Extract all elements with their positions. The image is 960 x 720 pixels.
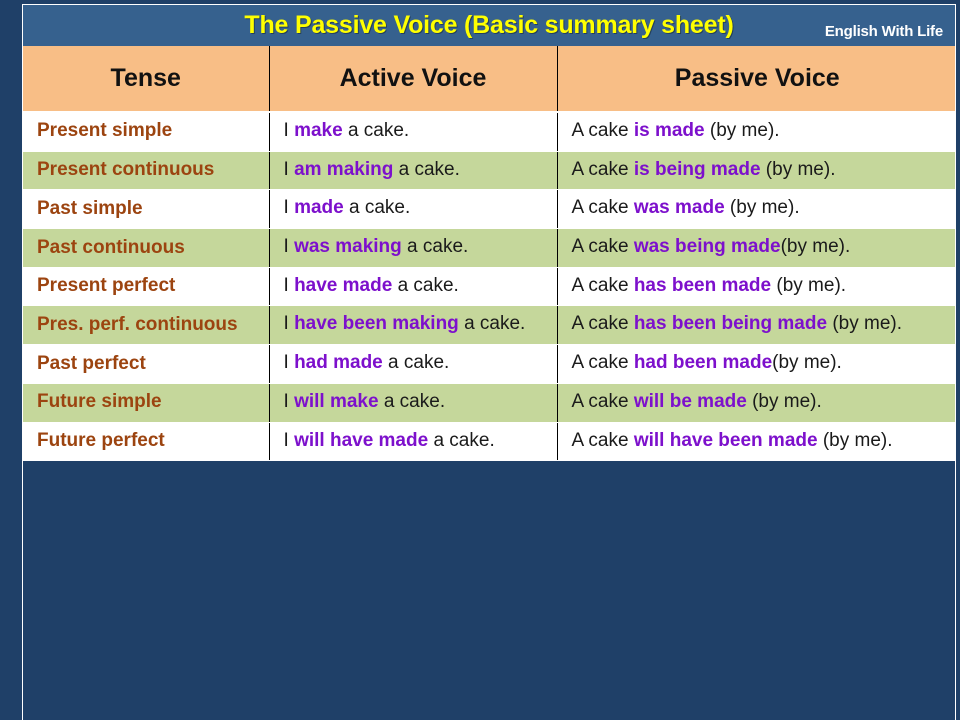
sentence-suffix: a cake. (379, 391, 446, 412)
highlighted-verb: made (294, 197, 344, 218)
cell-passive-voice: A cake was made (by me). (557, 190, 956, 229)
sentence-prefix: A cake (572, 352, 634, 373)
sentence-suffix: (by me). (747, 391, 822, 412)
sentence-prefix: I (284, 120, 295, 141)
highlighted-verb: was being made (634, 236, 781, 257)
cell-tense: Past simple (23, 190, 269, 229)
sentence-prefix: I (284, 430, 295, 451)
column-header-tense: Tense (23, 46, 269, 112)
cell-passive-voice: A cake has been being made (by me). (557, 306, 956, 345)
sentence-suffix: a cake. (393, 159, 460, 180)
table-body: Present simpleI make a cake.A cake is ma… (23, 112, 956, 461)
sentence-suffix: a cake. (343, 120, 410, 141)
sentence-prefix: A cake (572, 430, 634, 451)
sentence-suffix: (by me). (705, 120, 780, 141)
sentence-suffix: a cake. (392, 275, 459, 296)
sentence-prefix: A cake (572, 313, 634, 334)
cell-active-voice: I will make a cake. (269, 383, 557, 422)
cell-active-voice: I have made a cake. (269, 267, 557, 306)
sentence-suffix: (by me). (725, 197, 800, 218)
cell-passive-voice: A cake has been made (by me). (557, 267, 956, 306)
cell-passive-voice: A cake had been made(by me). (557, 345, 956, 384)
cell-tense: Future perfect (23, 422, 269, 461)
highlighted-verb: has been made (634, 275, 771, 296)
sentence-suffix: a cake. (428, 430, 495, 451)
sentence-suffix: a cake. (459, 313, 526, 334)
sentence-suffix: (by me). (771, 275, 846, 296)
sentence-prefix: A cake (572, 120, 634, 141)
highlighted-verb: am making (294, 159, 393, 180)
table-row: Present continuousI am making a cake.A c… (23, 151, 956, 190)
sentence-prefix: I (284, 352, 295, 373)
cell-passive-voice: A cake is being made (by me). (557, 151, 956, 190)
brand-watermark: English With Life (825, 23, 943, 40)
highlighted-verb: will have been made (634, 430, 818, 451)
sentence-suffix: (by me). (772, 352, 842, 373)
title-bar: The Passive Voice (Basic summary sheet) … (22, 4, 956, 46)
sentence-suffix: a cake. (344, 197, 411, 218)
cell-tense: Present continuous (23, 151, 269, 190)
cell-tense: Pres. perf. continuous (23, 306, 269, 345)
sentence-prefix: A cake (572, 236, 634, 257)
cell-tense: Present perfect (23, 267, 269, 306)
highlighted-verb: have been making (294, 313, 459, 334)
highlighted-verb: was making (294, 236, 402, 257)
column-header-active-voice: Active Voice (269, 46, 557, 112)
highlighted-verb: is being made (634, 159, 761, 180)
cell-tense: Present simple (23, 112, 269, 151)
highlighted-verb: was made (634, 197, 725, 218)
cell-passive-voice: A cake will have been made (by me). (557, 422, 956, 461)
highlighted-verb: had been made (634, 352, 772, 373)
highlighted-verb: make (294, 120, 343, 141)
sentence-prefix: A cake (572, 159, 634, 180)
table-header: Tense Active Voice Passive Voice (23, 46, 956, 112)
highlighted-verb: will be made (634, 391, 747, 412)
sentence-prefix: A cake (572, 275, 634, 296)
sentence-prefix: I (284, 159, 295, 180)
table-scroll-region: Tense Active Voice Passive Voice Present… (22, 46, 956, 720)
summary-sheet: The Passive Voice (Basic summary sheet) … (0, 0, 960, 720)
sentence-suffix: a cake. (383, 352, 450, 373)
table-row: Past perfectI had made a cake.A cake had… (23, 345, 956, 384)
sentence-prefix: I (284, 275, 295, 296)
cell-tense: Past perfect (23, 345, 269, 384)
cell-active-voice: I will have made a cake. (269, 422, 557, 461)
cell-active-voice: I made a cake. (269, 190, 557, 229)
sentence-suffix: (by me). (761, 159, 836, 180)
sentence-prefix: I (284, 236, 295, 257)
table-row: Present perfectI have made a cake.A cake… (23, 267, 956, 306)
sentence-suffix: a cake. (402, 236, 469, 257)
sentence-prefix: I (284, 313, 295, 334)
highlighted-verb: has been being made (634, 313, 827, 334)
cell-passive-voice: A cake will be made (by me). (557, 383, 956, 422)
cell-active-voice: I had made a cake. (269, 345, 557, 384)
highlighted-verb: is made (634, 120, 705, 141)
column-header-passive-voice: Passive Voice (557, 46, 956, 112)
cell-passive-voice: A cake was being made(by me). (557, 229, 956, 268)
cell-tense: Past continuous (23, 229, 269, 268)
table-header-row: Tense Active Voice Passive Voice (23, 46, 956, 112)
highlighted-verb: had made (294, 352, 383, 373)
sentence-prefix: A cake (572, 391, 634, 412)
sentence-suffix: (by me). (781, 236, 851, 257)
page-title: The Passive Voice (Basic summary sheet) (244, 11, 733, 40)
cell-passive-voice: A cake is made (by me). (557, 112, 956, 151)
sentence-prefix: A cake (572, 197, 634, 218)
table-row: Present simpleI make a cake.A cake is ma… (23, 112, 956, 151)
cell-active-voice: I was making a cake. (269, 229, 557, 268)
highlighted-verb: will have made (294, 430, 428, 451)
sentence-suffix: (by me). (827, 313, 902, 334)
cell-active-voice: I am making a cake. (269, 151, 557, 190)
cell-active-voice: I have been making a cake. (269, 306, 557, 345)
cell-tense: Future simple (23, 383, 269, 422)
passive-voice-table: Tense Active Voice Passive Voice Present… (23, 46, 956, 461)
sentence-suffix: (by me). (818, 430, 893, 451)
highlighted-verb: have made (294, 275, 392, 296)
sentence-prefix: I (284, 197, 295, 218)
table-row: Past simpleI made a cake.A cake was made… (23, 190, 956, 229)
table-row: Future perfectI will have made a cake.A … (23, 422, 956, 461)
cell-active-voice: I make a cake. (269, 112, 557, 151)
table-row: Future simpleI will make a cake.A cake w… (23, 383, 956, 422)
table-row: Pres. perf. continuousI have been making… (23, 306, 956, 345)
sentence-prefix: I (284, 391, 295, 412)
table-row: Past continuousI was making a cake.A cak… (23, 229, 956, 268)
highlighted-verb: will make (294, 391, 379, 412)
